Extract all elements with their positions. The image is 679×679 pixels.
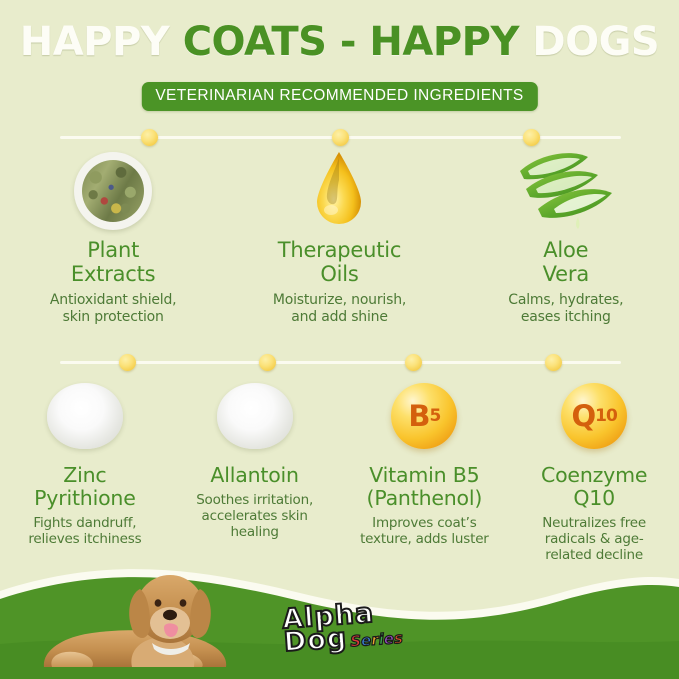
ingredient-desc-line: accelerates skin (174, 509, 336, 525)
divider-dot (405, 354, 422, 371)
ingredient-name: Allantoin (174, 464, 336, 487)
ingredient-name-line: Oils (230, 263, 448, 287)
divider-row-2 (60, 352, 621, 372)
ingredient-desc-line: and add shine (230, 309, 448, 326)
ingredient-desc-line: Neutralizes free (513, 516, 675, 532)
ingredient-name: Therapeutic Oils (230, 239, 448, 286)
page-title: HAPPY COATS - HAPPY DOGS (0, 22, 679, 62)
ingredient-name-line: (Panthenol) (344, 487, 506, 510)
ingredient-desc-line: Soothes irritation, (174, 493, 336, 509)
divider-dot (545, 354, 562, 371)
ingredient-desc-line: healing (174, 525, 336, 541)
ingredient-card-coenzyme-q10: Q10 Coenzyme Q10 Neutralizes free radica… (509, 370, 679, 564)
ingredient-description: Fights dandruff, relieves itchiness (4, 516, 166, 548)
divider-dot (259, 354, 276, 371)
ingredient-description: Soothes irritation, accelerates skin hea… (174, 493, 336, 541)
herb-bowl-icon (4, 145, 222, 237)
ingredient-name: Coenzyme Q10 (513, 464, 675, 510)
ingredient-card-zinc-pyrithione: Zinc Pyrithione Fights dandruff, relieve… (0, 370, 170, 564)
ingredient-name: Plant Extracts (4, 239, 222, 286)
oil-drop-icon (230, 145, 448, 237)
divider-dot (141, 129, 158, 146)
ingredient-desc-line: Fights dandruff, (4, 516, 166, 532)
logo-series-text: Series (350, 629, 404, 651)
ingredient-desc-line: relieves itchiness (4, 532, 166, 548)
bubble-main-label: B (408, 399, 429, 433)
ingredient-description: Antioxidant shield, skin protection (4, 292, 222, 325)
ingredient-desc-line: Calms, hydrates, (457, 292, 675, 309)
status-badge: VETERINARIAN RECOMMENDED INGREDIENTS (141, 82, 537, 111)
white-powder-icon (4, 370, 166, 462)
ingredient-row-2: Zinc Pyrithione Fights dandruff, relieve… (0, 370, 679, 564)
ingredient-name-line: Q10 (513, 487, 675, 510)
ingredient-name: Aloe Vera (457, 239, 675, 286)
ingredient-card-vitamin-b5: B5 Vitamin B5 (Panthenol) Improves coat’… (340, 370, 510, 564)
divider-dot (332, 129, 349, 146)
ingredient-description: Calms, hydrates, eases itching (457, 292, 675, 325)
ingredient-desc-line: radicals & age- (513, 532, 675, 548)
ingredient-desc-line: Moisturize, nourish, (230, 292, 448, 309)
ingredient-description: Moisturize, nourish, and add shine (230, 292, 448, 325)
ingredient-desc-line: skin protection (4, 309, 222, 326)
divider-dot (119, 354, 136, 371)
ingredient-name-line: Plant (4, 239, 222, 263)
title-word-4: DOGS (532, 19, 659, 65)
ingredient-desc-line: Antioxidant shield, (4, 292, 222, 309)
ingredient-name: Zinc Pyrithione (4, 464, 166, 510)
divider-rule (60, 361, 621, 364)
ingredient-name-line: Allantoin (174, 464, 336, 487)
footer-band: Alpha DogSeries (0, 549, 679, 679)
vitamin-b5-bubble-icon: B5 (344, 370, 506, 462)
ingredient-desc-line: eases itching (457, 309, 675, 326)
ingredient-card-aloe-vera: Aloe Vera Calms, hydrates, eases itching (453, 145, 679, 325)
title-word-2: COATS (183, 19, 327, 65)
ingredient-desc-line: texture, adds luster (344, 532, 506, 548)
logo-dog-text: Dog (283, 623, 348, 658)
ingredient-card-therapeutic-oils: Therapeutic Oils Moisturize, nourish, an… (226, 145, 452, 325)
bubble-sub-label: 5 (430, 406, 441, 426)
ingredient-name-line: Vitamin B5 (344, 464, 506, 487)
title-word-3: HAPPY (369, 19, 519, 65)
ingredient-name-line: Pyrithione (4, 487, 166, 510)
ingredient-name: Vitamin B5 (Panthenol) (344, 464, 506, 510)
ingredient-row-1: Plant Extracts Antioxidant shield, skin … (0, 145, 679, 325)
ingredient-name-line: Therapeutic (230, 239, 448, 263)
ingredient-name-line: Zinc (4, 464, 166, 487)
divider-row-1 (60, 127, 621, 147)
ingredient-name-line: Extracts (4, 263, 222, 287)
ingredient-card-plant-extracts: Plant Extracts Antioxidant shield, skin … (0, 145, 226, 325)
brand-logo[interactable]: Alpha DogSeries (282, 601, 405, 655)
ingredient-card-allantoin: Allantoin Soothes irritation, accelerate… (170, 370, 340, 564)
aloe-vera-icon (457, 145, 675, 237)
divider-dot (523, 129, 540, 146)
white-powder-icon (174, 370, 336, 462)
ingredient-name-line: Coenzyme (513, 464, 675, 487)
dog-photo (36, 567, 266, 679)
bubble-main-label: Q (571, 399, 595, 433)
bubble-sub-label: 10 (595, 406, 617, 426)
ingredient-desc-line: Improves coat’s (344, 516, 506, 532)
title-word-1: HAPPY (20, 19, 170, 65)
title-dash: - (340, 19, 356, 65)
coenzyme-q10-bubble-icon: Q10 (513, 370, 675, 462)
infographic-page: HAPPY COATS - HAPPY DOGS VETERINARIAN RE… (0, 0, 679, 679)
ingredient-name-line: Aloe (457, 239, 675, 263)
ingredient-name-line: Vera (457, 263, 675, 287)
ingredient-description: Improves coat’s texture, adds luster (344, 516, 506, 548)
